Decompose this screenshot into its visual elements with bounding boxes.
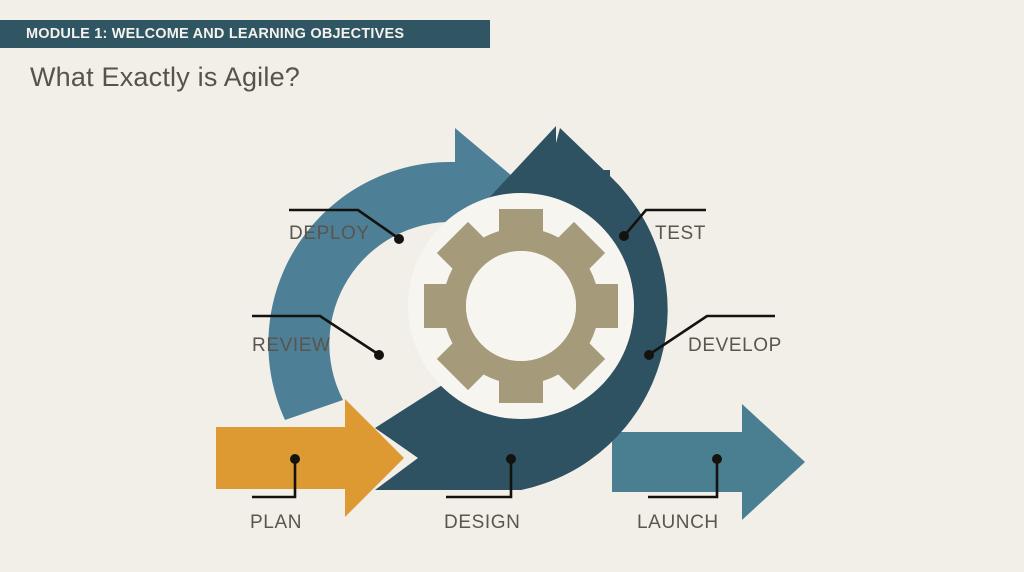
callout-label-review: REVIEW: [252, 335, 331, 356]
callout-label-plan: PLAN: [250, 512, 302, 533]
page-title: What Exactly is Agile?: [30, 62, 300, 93]
callout-label-design: DESIGN: [444, 512, 520, 533]
agile-cycle-diagram: DEPLOY TEST REVIEW DEVELOP PLAN: [0, 100, 1024, 550]
callout-label-test: TEST: [655, 223, 706, 244]
gear-icon: [424, 209, 618, 403]
callout-label-launch: LAUNCH: [637, 512, 719, 533]
arrow-launch: [612, 404, 805, 520]
callout-label-develop: DEVELOP: [688, 335, 782, 356]
callout-label-deploy: DEPLOY: [289, 223, 370, 244]
slide-canvas: MODULE 1: WELCOME AND LEARNING OBJECTIVE…: [0, 0, 1024, 572]
module-banner: MODULE 1: WELCOME AND LEARNING OBJECTIVE…: [0, 20, 490, 48]
arrow-plan: [216, 399, 404, 517]
module-banner-label: MODULE 1: WELCOME AND LEARNING OBJECTIVE…: [26, 26, 404, 42]
